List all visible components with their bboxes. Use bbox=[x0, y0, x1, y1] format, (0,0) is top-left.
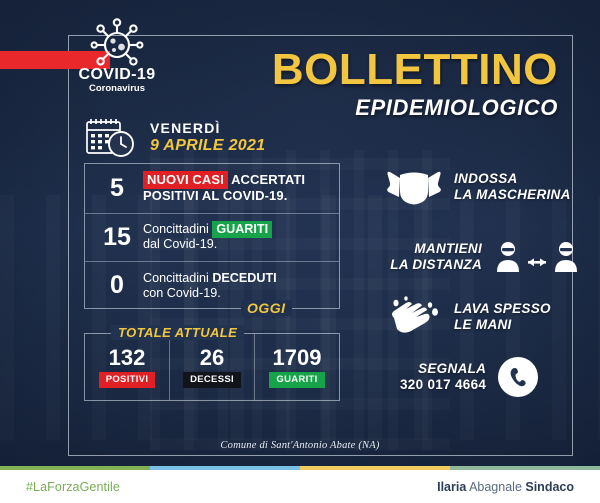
footer-color-bar bbox=[0, 466, 600, 470]
today-label: OGGI bbox=[241, 300, 292, 316]
wash-hands-icon bbox=[386, 296, 442, 338]
total-column-positivi: 132 POSITIVI bbox=[85, 334, 169, 400]
advisory-distance-text: MANTIENI LA DISTANZA bbox=[386, 241, 482, 273]
advisory-distance-line2: LA DISTANZA bbox=[386, 257, 482, 273]
page-title: BOLLETTINO bbox=[272, 48, 558, 91]
advisory-report-phone: SEGNALA 320 017 4664 bbox=[400, 357, 538, 397]
deceased-prefix: Concittadini bbox=[143, 271, 212, 285]
social-distance-icon bbox=[494, 240, 580, 274]
covid-bulletin-poster: COVID-19 Coronavirus BOLLETTINO EPIDEMIO… bbox=[0, 0, 600, 503]
face-mask-icon bbox=[386, 166, 442, 208]
advisory-distance-line1: MANTIENI bbox=[386, 241, 482, 257]
deceased-number: 0 bbox=[91, 271, 143, 300]
recovered-line2: dal Covid-19. bbox=[143, 237, 272, 252]
color-bar-segment-light-blue bbox=[150, 466, 300, 470]
phone-icon bbox=[507, 366, 529, 388]
total-positivi-value: 132 bbox=[109, 347, 146, 369]
current-totals-box: TOTALE ATTUALE 132 POSITIVI 26 DECESSI 1… bbox=[84, 333, 340, 401]
total-column-decessi: 26 DECESSI bbox=[169, 334, 254, 400]
color-bar-segment-green bbox=[0, 466, 150, 470]
recovered-number: 15 bbox=[91, 223, 143, 252]
footer-content: #LaForzaGentile Ilaria Abagnale Sindaco bbox=[0, 470, 600, 503]
calendar-clock-icon bbox=[84, 116, 138, 160]
source-caption: Comune di Sant'Antonio Abate (NA) bbox=[0, 440, 600, 451]
header-title-block: BOLLETTINO EPIDEMIOLOGICO bbox=[272, 48, 558, 121]
current-totals-label: TOTALE ATTUALE bbox=[111, 325, 244, 340]
total-decessi-value: 26 bbox=[200, 347, 224, 369]
recovered-prefix: Concittadini bbox=[143, 222, 212, 236]
covid-logo-subtitle: Coronavirus bbox=[62, 83, 172, 94]
footer: #LaForzaGentile Ilaria Abagnale Sindaco bbox=[0, 466, 600, 503]
new-cases-highlight: NUOVI CASI bbox=[143, 171, 228, 189]
advisory-mask-line2: LA MASCHERINA bbox=[454, 187, 571, 203]
footer-hashtag: #LaForzaGentile bbox=[26, 480, 120, 494]
color-bar-segment-amber bbox=[300, 466, 450, 470]
mayor-role: Sindaco bbox=[525, 480, 574, 494]
advisory-wash-hands: LAVA SPESSO LE MANI bbox=[386, 296, 551, 338]
phone-icon-circle[interactable] bbox=[498, 357, 538, 397]
mayor-last-name: Abagnale bbox=[466, 480, 525, 494]
total-column-guariti: 1709 GUARITI bbox=[254, 334, 339, 400]
deceased-text: Concittadini DECEDUTI con Covid-19. bbox=[143, 271, 277, 302]
footer-mayor: Ilaria Abagnale Sindaco bbox=[437, 480, 574, 494]
new-cases-text: NUOVI CASI ACCERTATI POSITIVI AL COVID-1… bbox=[143, 172, 305, 204]
advisory-report-text: SEGNALA 320 017 4664 bbox=[400, 361, 486, 393]
coronavirus-icon bbox=[84, 16, 150, 72]
new-cases-rest: ACCERTATI bbox=[228, 172, 305, 187]
advisory-wash-text: LAVA SPESSO LE MANI bbox=[454, 301, 551, 333]
advisory-keep-distance: MANTIENI LA DISTANZA bbox=[386, 240, 580, 274]
covid-logo: COVID-19 Coronavirus bbox=[62, 16, 172, 72]
advisory-wash-line2: LE MANI bbox=[454, 317, 551, 333]
advisory-report-line1: SEGNALA bbox=[400, 361, 486, 377]
daily-stat-row-deceased: 0 Concittadini DECEDUTI con Covid-19. bbox=[85, 261, 339, 310]
deceased-strong: DECEDUTI bbox=[212, 271, 276, 285]
advisory-wear-mask: INDOSSA LA MASCHERINA bbox=[386, 166, 571, 208]
advisory-mask-text: INDOSSA LA MASCHERINA bbox=[454, 171, 571, 203]
advisory-report-phone-number: 320 017 4664 bbox=[400, 377, 486, 393]
total-decessi-badge: DECESSI bbox=[183, 372, 241, 388]
recovered-highlight: GUARITI bbox=[212, 221, 272, 238]
covid-logo-name: COVID-19 bbox=[62, 66, 172, 84]
daily-stat-row-recovered: 15 Concittadini GUARITI dal Covid-19. bbox=[85, 213, 339, 262]
daily-stats-box: 5 NUOVI CASI ACCERTATI POSITIVI AL COVID… bbox=[84, 163, 340, 309]
total-positivi-badge: POSITIVI bbox=[99, 372, 156, 388]
total-guariti-badge: GUARITI bbox=[269, 372, 324, 388]
new-cases-line2: POSITIVI AL COVID-19. bbox=[143, 188, 305, 204]
color-bar-segment-sage bbox=[450, 466, 600, 470]
date-weekday: VENERDÌ bbox=[150, 121, 265, 137]
mayor-first-name: Ilaria bbox=[437, 480, 466, 494]
date-block: VENERDÌ 9 APRILE 2021 bbox=[84, 116, 265, 160]
new-cases-number: 5 bbox=[91, 174, 143, 203]
date-full: 9 APRILE 2021 bbox=[150, 137, 265, 155]
advisory-mask-line1: INDOSSA bbox=[454, 171, 571, 187]
daily-stat-row-new-cases: 5 NUOVI CASI ACCERTATI POSITIVI AL COVID… bbox=[85, 164, 339, 213]
recovered-text: Concittadini GUARITI dal Covid-19. bbox=[143, 222, 272, 253]
total-guariti-value: 1709 bbox=[273, 347, 322, 369]
page-subtitle: EPIDEMIOLOGICO bbox=[272, 95, 558, 121]
advisory-wash-line1: LAVA SPESSO bbox=[454, 301, 551, 317]
